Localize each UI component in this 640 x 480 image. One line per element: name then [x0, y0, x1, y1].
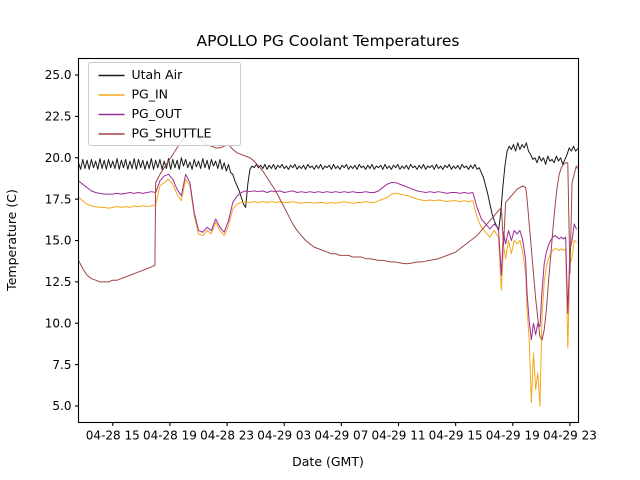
x-tick-label: 04-28 23 — [200, 429, 254, 443]
y-tick-label: 7.5 — [52, 358, 71, 372]
x-tick-label: 04-28 15 — [86, 429, 140, 443]
y-tick-label: 20.0 — [45, 151, 72, 165]
y-tick-label: 10.0 — [45, 316, 72, 330]
x-tick-label: 04-29 19 — [486, 429, 540, 443]
y-tick-label: 5.0 — [52, 399, 71, 413]
x-tick-label: 04-29 15 — [429, 429, 483, 443]
figure-canvas: APOLLO PG Coolant Temperatures 5.07.510.… — [0, 0, 640, 480]
legend-label-1[interactable]: PG_IN — [132, 87, 169, 102]
x-axis-label: Date (GMT) — [292, 454, 364, 469]
y-tick-label: 25.0 — [45, 68, 72, 82]
x-tick-label: 04-29 23 — [543, 429, 597, 443]
chart-title: APOLLO PG Coolant Temperatures — [197, 32, 460, 50]
legend-label-2[interactable]: PG_OUT — [132, 106, 182, 121]
x-tick-label: 04-29 11 — [372, 429, 426, 443]
x-tick-label: 04-29 07 — [314, 429, 368, 443]
legend-label-0[interactable]: Utah Air — [132, 67, 184, 82]
y-tick-label: 15.0 — [45, 234, 72, 248]
matplotlib-chart[interactable]: APOLLO PG Coolant Temperatures 5.07.510.… — [0, 0, 640, 480]
y-tick-label: 17.5 — [45, 192, 72, 206]
legend-label-3[interactable]: PG_SHUTTLE — [132, 126, 212, 141]
y-tick-label: 12.5 — [45, 275, 72, 289]
y-axis-label: Temperature (C) — [4, 189, 19, 292]
x-tick-label: 04-28 19 — [143, 429, 197, 443]
y-tick-label: 22.5 — [45, 110, 72, 124]
x-tick-label: 04-29 03 — [257, 429, 311, 443]
chart-legend[interactable]: Utah AirPG_INPG_OUTPG_SHUTTLE — [89, 63, 241, 146]
